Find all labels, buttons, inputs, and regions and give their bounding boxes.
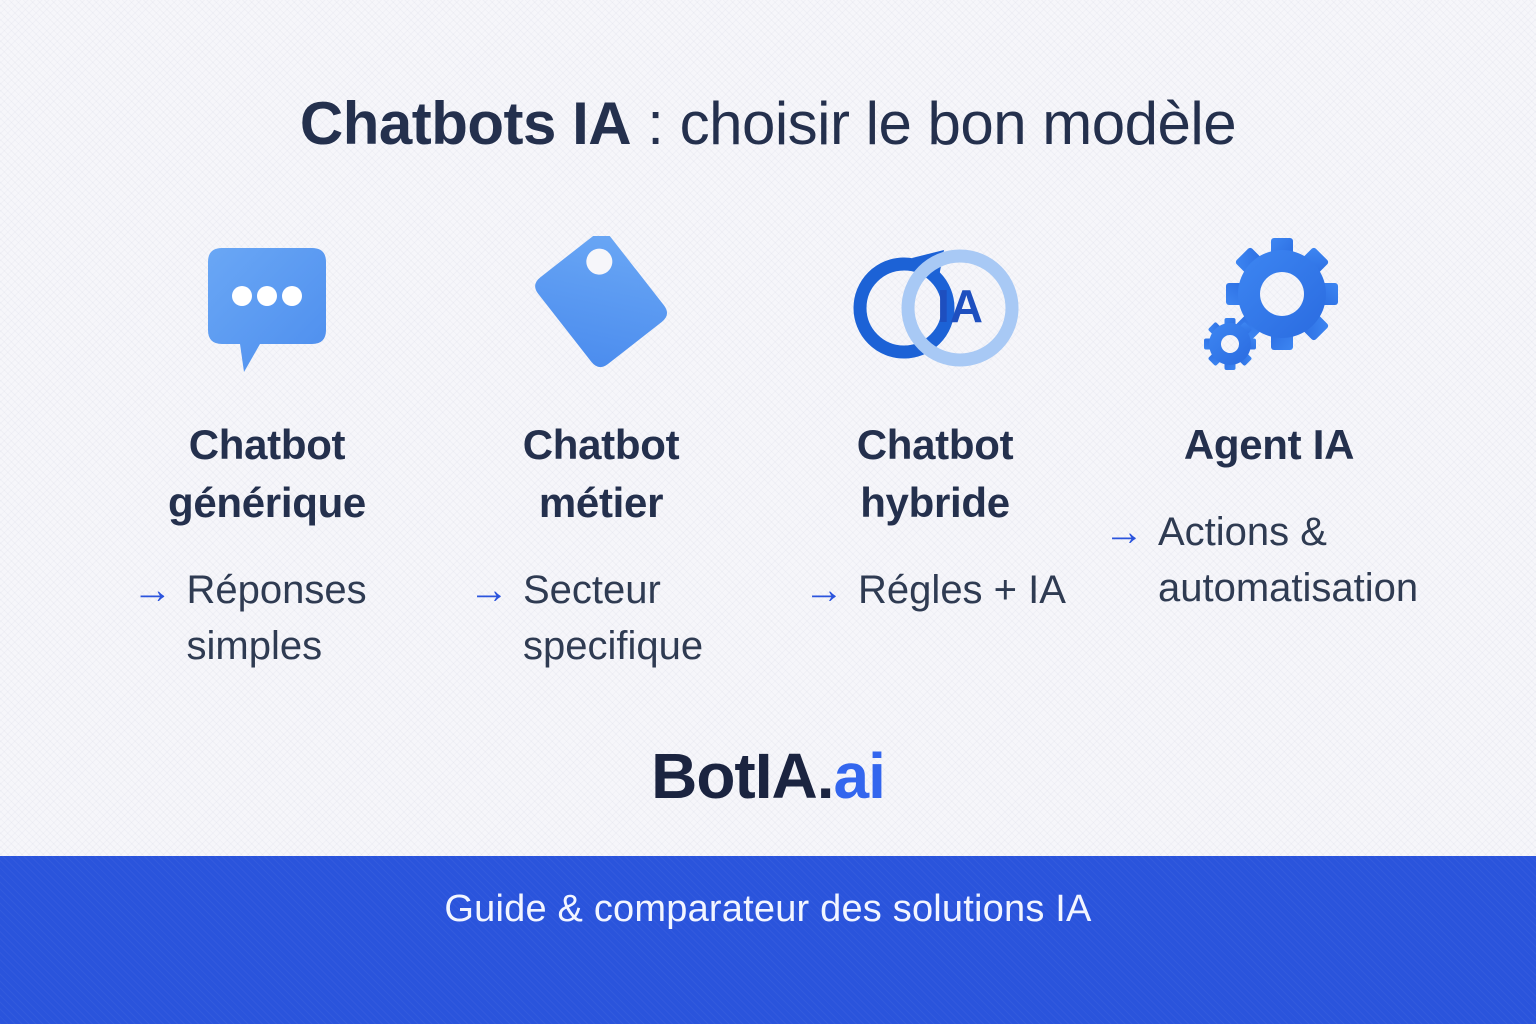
- arrow-right-icon: →: [1104, 504, 1144, 560]
- column-title-line1: Chatbot: [168, 416, 366, 474]
- infographic-poster: Chatbots IA : choisir le bon modèle: [0, 0, 1536, 1024]
- column-title-line2: métier: [523, 474, 680, 532]
- column-title: Chatbot métier: [523, 416, 680, 532]
- column-chatbot-generique: Chatbot générique → Réponses simples: [100, 236, 434, 674]
- column-title-line1: Agent IA: [1184, 416, 1354, 474]
- gears-icon: [1194, 236, 1344, 376]
- arrow-right-icon: →: [469, 562, 509, 618]
- page-title-rest: : choisir le bon modèle: [631, 90, 1236, 157]
- brand-logo: BotIA.ai: [0, 736, 1536, 816]
- hybrid-cycle-ia-icon: IA: [842, 236, 1028, 376]
- column-title-line1: Chatbot: [857, 416, 1014, 474]
- hybrid-icon-label: IA: [937, 280, 983, 332]
- column-title: Chatbot hybride: [857, 416, 1014, 532]
- column-subtitle-text: Secteur specifique: [523, 562, 733, 674]
- column-subtitle: → Secteur specifique: [469, 562, 733, 674]
- comparison-columns: Chatbot générique → Réponses simples: [100, 236, 1436, 706]
- column-subtitle-text: Réponses simples: [187, 562, 402, 674]
- column-chatbot-hybride: IA Chatbot hybride → Régles + IA: [768, 236, 1102, 618]
- arrow-right-icon: →: [804, 562, 844, 618]
- footer-tagline: Guide & comparateur des solutions IA: [444, 884, 1091, 934]
- footer-bar: Guide & comparateur des solutions IA: [0, 856, 1536, 1024]
- column-chatbot-metier: Chatbot métier → Secteur specifique: [434, 236, 768, 674]
- brand-logo-accent: ai: [834, 740, 885, 812]
- brand-logo-name: BotIA.: [651, 740, 833, 812]
- column-subtitle: → Réponses simples: [133, 562, 402, 674]
- column-subtitle-text: Actions & automatisation: [1158, 504, 1434, 616]
- column-subtitle: → Actions & automatisation: [1104, 504, 1434, 616]
- price-tag-icon: [531, 236, 671, 376]
- column-title: Chatbot générique: [168, 416, 366, 532]
- arrow-right-icon: →: [133, 562, 173, 618]
- column-subtitle-text: Régles + IA: [858, 562, 1066, 618]
- column-subtitle: → Régles + IA: [804, 562, 1066, 618]
- column-title-line2: hybride: [857, 474, 1014, 532]
- page-title: Chatbots IA : choisir le bon modèle: [0, 88, 1536, 160]
- column-title: Agent IA: [1184, 416, 1354, 474]
- column-title-line1: Chatbot: [523, 416, 680, 474]
- chat-bubble-icon: [194, 236, 340, 376]
- page-title-bold: Chatbots IA: [300, 90, 631, 157]
- column-agent-ia: Agent IA → Actions & automatisation: [1102, 236, 1436, 616]
- column-title-line2: générique: [168, 474, 366, 532]
